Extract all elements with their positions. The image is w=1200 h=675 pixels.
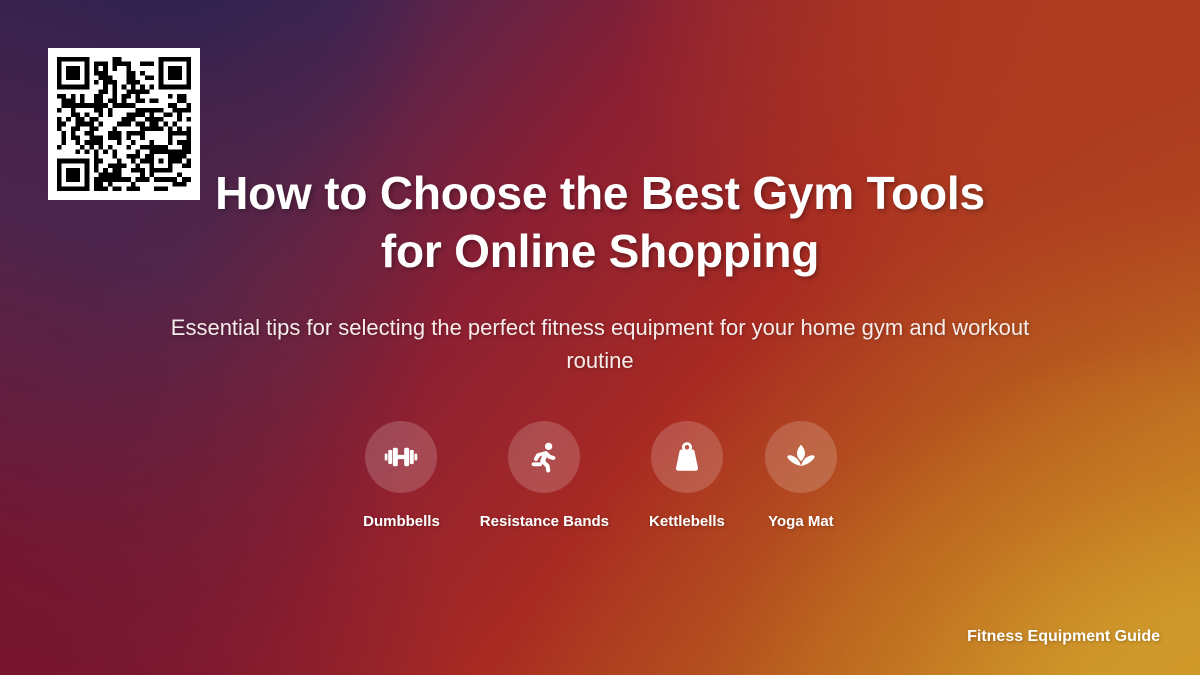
feature-label: Dumbbells [363, 513, 440, 530]
feature-list: Dumbbells Resistance Bands [363, 421, 837, 530]
feature-icon-badge [508, 421, 580, 493]
promo-banner: How to Choose the Best Gym Tools for Onl… [0, 0, 1200, 675]
feature-icon-badge [765, 421, 837, 493]
feature-item-kettlebells[interactable]: Kettlebells [649, 421, 725, 530]
page-subtitle: Essential tips for selecting the perfect… [140, 311, 1060, 377]
feature-item-yoga-mat[interactable]: Yoga Mat [765, 421, 837, 530]
dumbbell-icon [384, 440, 418, 474]
feature-item-resistance-bands[interactable]: Resistance Bands [480, 421, 609, 530]
lotus-icon [784, 440, 818, 474]
feature-label: Kettlebells [649, 513, 725, 530]
feature-label: Resistance Bands [480, 513, 609, 530]
footer-brand: Fitness Equipment Guide [967, 628, 1160, 646]
banner-content: How to Choose the Best Gym Tools for Onl… [0, 0, 1200, 675]
kettlebell-weight-icon [670, 440, 704, 474]
feature-icon-badge [651, 421, 723, 493]
running-person-icon [527, 440, 561, 474]
feature-icon-badge [365, 421, 437, 493]
page-title: How to Choose the Best Gym Tools for Onl… [130, 164, 1070, 280]
feature-label: Yoga Mat [768, 513, 834, 530]
feature-item-dumbbells[interactable]: Dumbbells [363, 421, 440, 530]
